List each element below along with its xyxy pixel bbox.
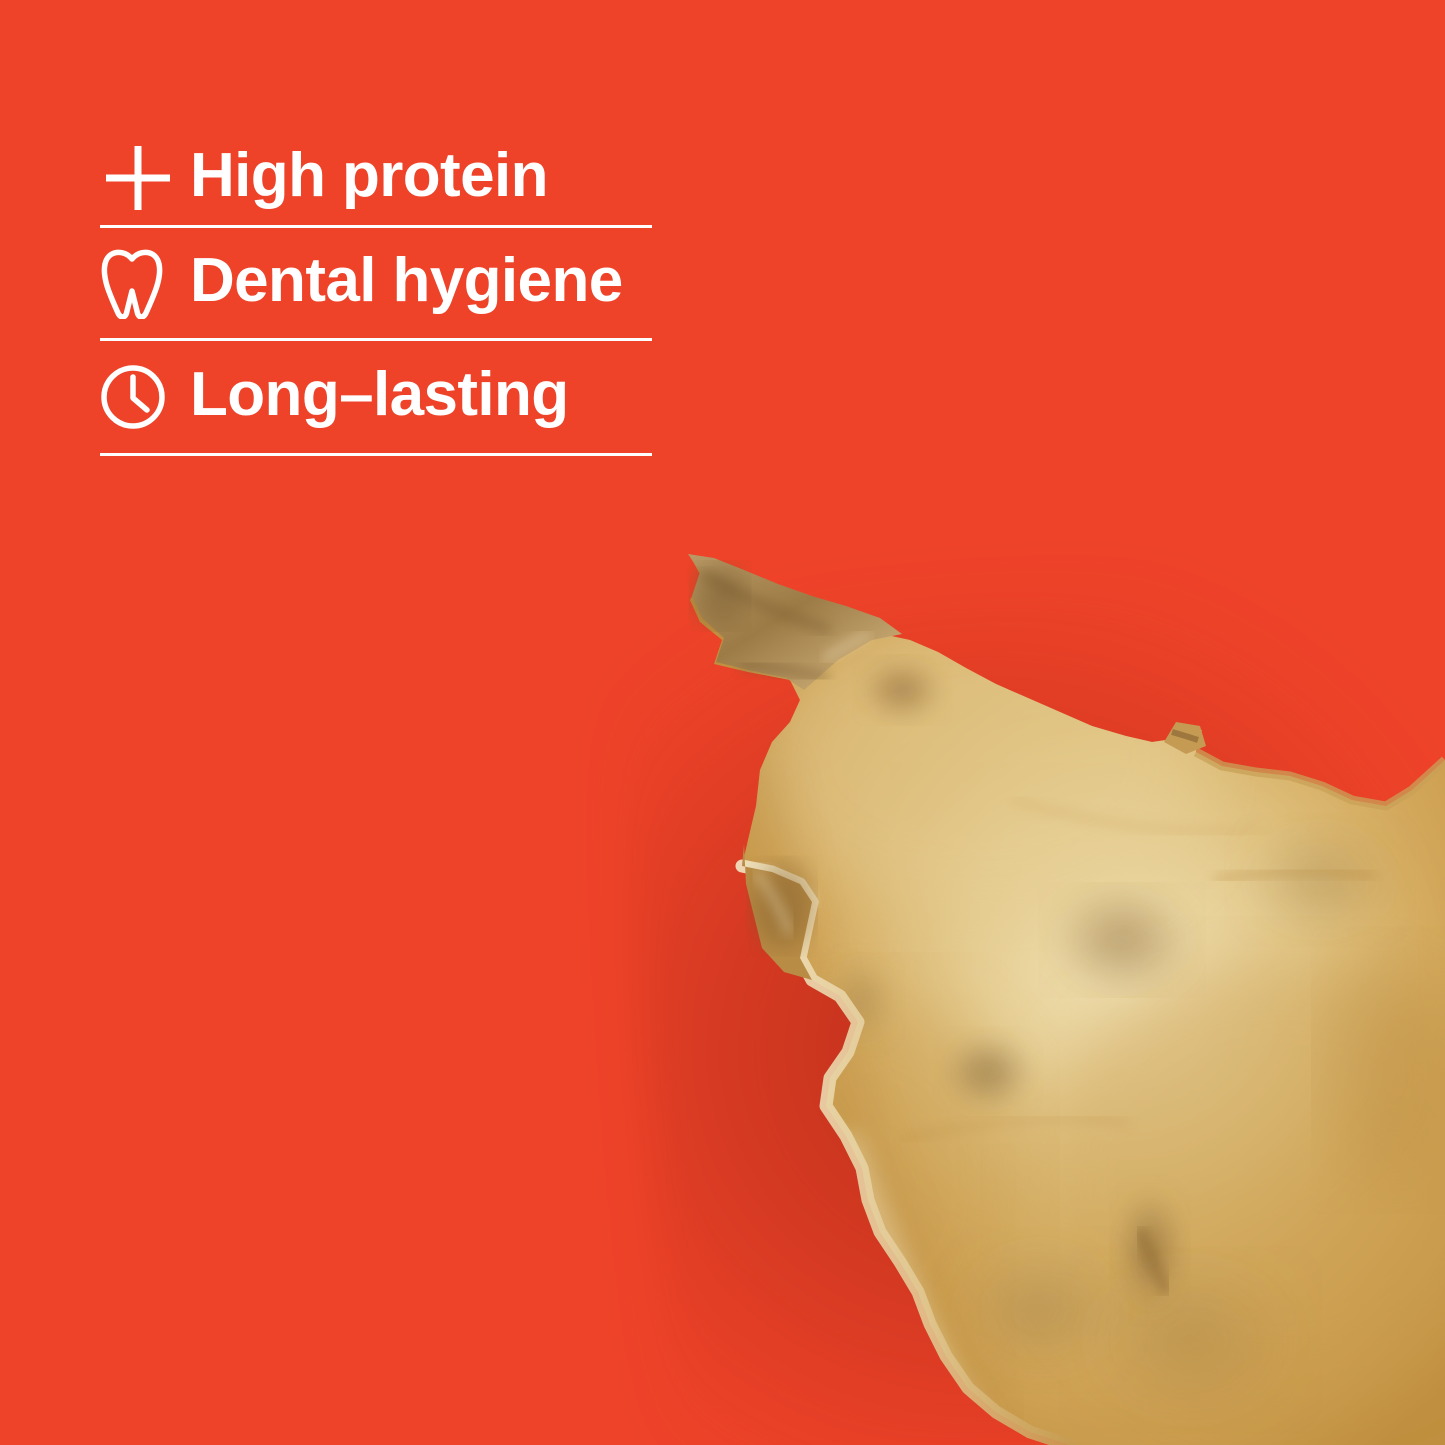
benefit-item-dental-hygiene: Dental hygiene bbox=[100, 228, 652, 341]
product-drop-shadow bbox=[610, 557, 1445, 1445]
benefits-list: High protein Dental hygiene Long–lasting bbox=[100, 131, 652, 456]
benefit-item-long-lasting: Long–lasting bbox=[100, 341, 652, 456]
benefit-label-high-protein: High protein bbox=[190, 145, 548, 207]
chew-left-knob bbox=[742, 844, 812, 980]
chew-right-tab bbox=[1164, 722, 1206, 754]
chew-body bbox=[690, 556, 1445, 1445]
chew-top-tip bbox=[688, 554, 902, 690]
clock-icon bbox=[100, 358, 178, 436]
benefit-label-long-lasting: Long–lasting bbox=[190, 364, 569, 426]
tooth-icon bbox=[100, 244, 178, 322]
plus-icon bbox=[100, 139, 178, 217]
benefit-item-high-protein: High protein bbox=[100, 131, 652, 228]
product-benefits-card: High protein Dental hygiene Long–lasting bbox=[0, 0, 1445, 1445]
benefit-label-dental-hygiene: Dental hygiene bbox=[190, 250, 623, 312]
